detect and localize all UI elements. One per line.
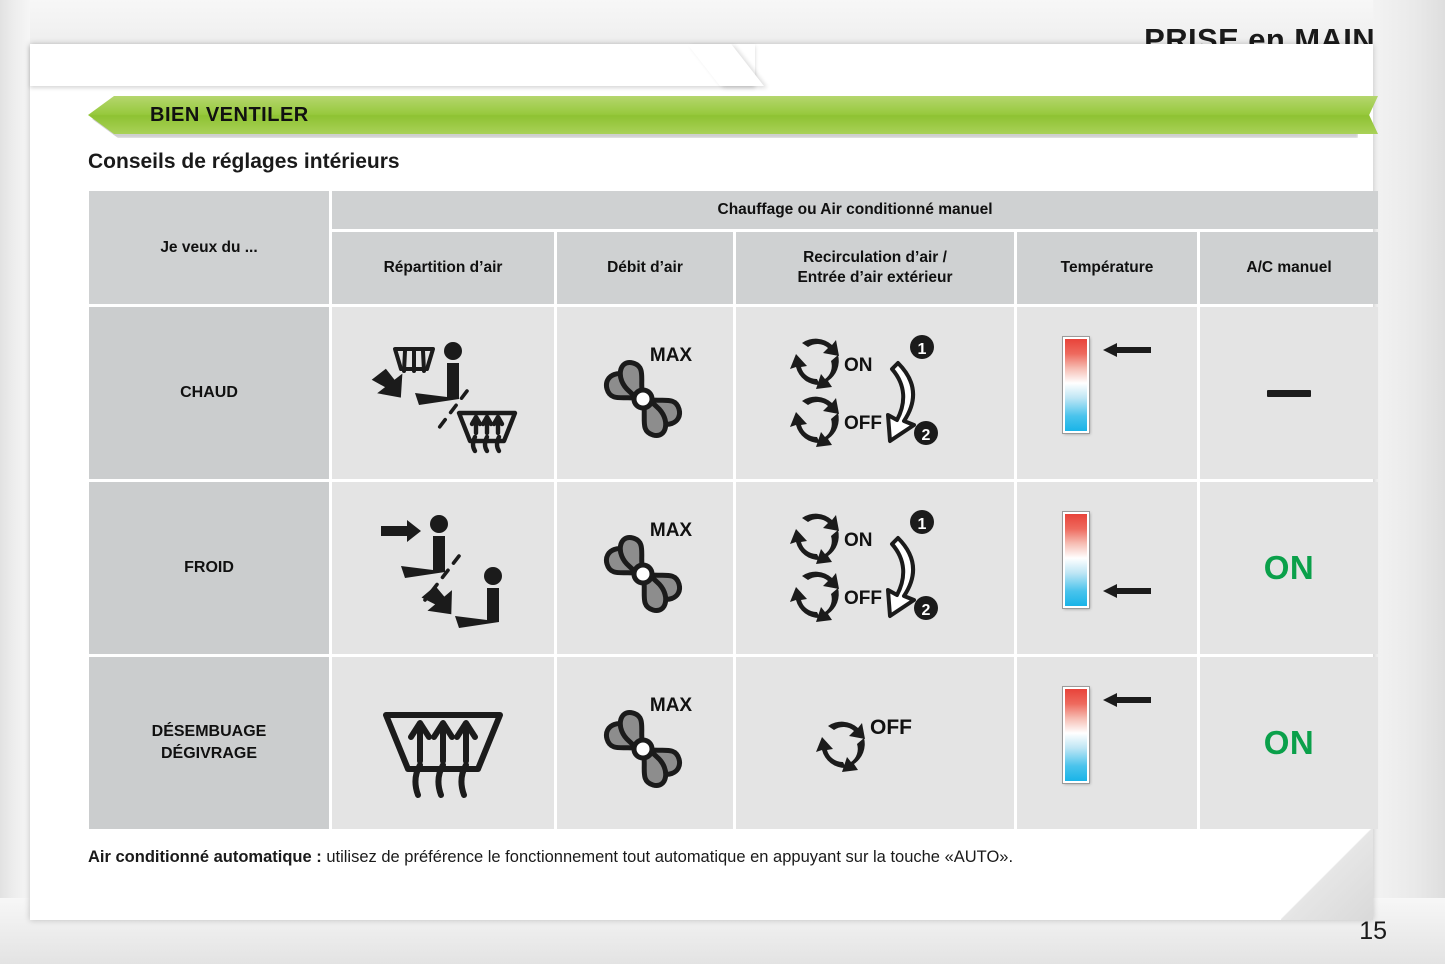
temperature-scale	[1063, 337, 1089, 433]
row-label-chaud-line1: CHAUD	[89, 382, 329, 404]
recirculation-on-label: ON	[844, 530, 873, 551]
person-feet-windshield-icon	[363, 329, 523, 457]
cell-recirculation-desembuage: OFF	[736, 657, 1014, 829]
cell-temperature-chaud	[1017, 307, 1197, 479]
recirculation-step-1: 1	[910, 510, 934, 534]
section-banner: BIEN VENTILER	[88, 96, 1358, 138]
temperature-gradient-bar	[1063, 337, 1151, 449]
svg-text:2: 2	[922, 427, 931, 444]
recirculation-off-icon	[816, 722, 865, 772]
cell-recirculation-froid: ON OFF 1	[736, 482, 1014, 654]
ac-manual-dash-icon	[1267, 390, 1311, 397]
temperature-scale	[1063, 512, 1089, 608]
cell-ac-manual-froid: ON	[1200, 482, 1378, 654]
table-row: CHAUD	[89, 307, 1378, 479]
person-face-and-feet-icon	[363, 504, 523, 632]
fan-icon: MAX	[585, 337, 705, 449]
section-subtitle: Conseils de réglages intérieurs	[88, 150, 400, 174]
fan-icon: MAX	[585, 687, 705, 799]
row-label-desembuage-line1: DÉSEMBUAGE	[89, 721, 329, 743]
recirculation-sequence-arrow	[888, 363, 914, 441]
cell-air-distribution-desembuage	[332, 657, 554, 829]
row-label-froid: FROID	[89, 482, 329, 654]
section-banner-label: BIEN VENTILER	[150, 96, 309, 134]
recirculation-two-step-icon: ON OFF 1	[780, 498, 970, 638]
header-notch	[30, 44, 755, 86]
svg-text:1: 1	[918, 341, 927, 358]
footer-note-bold: Air conditionné automatique :	[88, 848, 322, 866]
recirculation-off-label: OFF	[844, 413, 882, 434]
recirculation-two-step-icon: ON OFF	[780, 323, 970, 463]
header-col-recirculation-line1: Recirculation d’air /	[736, 248, 1014, 268]
footer-note: Air conditionné automatique : utilisez d…	[88, 845, 1360, 871]
cell-recirculation-chaud: ON OFF	[736, 307, 1014, 479]
temperature-arrow-hot	[1103, 343, 1151, 357]
row-label-desembuage: DÉSEMBUAGE DÉGIVRAGE	[89, 657, 329, 829]
fan-max-label: MAX	[650, 695, 693, 716]
recirculation-sequence-arrow	[888, 538, 914, 616]
ac-manual-status: ON	[1264, 549, 1315, 587]
page-border-left	[0, 0, 30, 964]
recirculation-step-1: 1	[910, 335, 934, 359]
temperature-arrow-hot	[1103, 693, 1151, 707]
fan-max-label: MAX	[650, 345, 693, 366]
footer-note-text: utilisez de préférence le fonctionnement…	[322, 848, 1013, 866]
cell-air-distribution-froid	[332, 482, 554, 654]
recirculation-on-label: ON	[844, 355, 873, 376]
header-col-recirculation-line2: Entrée d’air extérieur	[736, 268, 1014, 288]
temperature-scale	[1063, 687, 1089, 783]
header-col-recirculation: Recirculation d’air / Entrée d’air extér…	[736, 232, 1014, 304]
recirculation-step-2: 2	[914, 596, 938, 620]
svg-text:2: 2	[922, 602, 931, 619]
ac-manual-status: ON	[1264, 724, 1315, 762]
cell-ac-manual-chaud	[1200, 307, 1378, 479]
windshield-defrost-icon	[368, 681, 518, 805]
cell-air-flow-desembuage: MAX	[557, 657, 733, 829]
manual-page: PRISE en MAIN BIEN VENTILER Conseils de …	[0, 0, 1445, 964]
cell-air-flow-chaud: MAX	[557, 307, 733, 479]
recirculation-single-icon: OFF	[800, 698, 950, 788]
table-row: DÉSEMBUAGE DÉGIVRAGE	[89, 657, 1378, 829]
recirculation-off-icon	[790, 572, 839, 622]
recirculation-on-icon	[790, 514, 839, 564]
settings-table: Je veux du ... Chauffage ou Air conditio…	[86, 188, 1381, 832]
row-label-desembuage-line2: DÉGIVRAGE	[89, 743, 329, 765]
svg-text:1: 1	[918, 516, 927, 533]
temperature-arrow-cold	[1103, 584, 1151, 598]
page-number: 15	[1359, 917, 1387, 946]
header-group-chauffage: Chauffage ou Air conditionné manuel	[332, 191, 1378, 229]
page-border-right	[1373, 0, 1445, 964]
row-label-froid-line1: FROID	[89, 557, 329, 579]
table-row: FROID	[89, 482, 1378, 654]
recirculation-step-2: 2	[914, 421, 938, 445]
fan-max-label: MAX	[650, 520, 693, 541]
row-label-chaud: CHAUD	[89, 307, 329, 479]
cell-air-flow-froid: MAX	[557, 482, 733, 654]
recirculation-on-icon	[790, 339, 839, 389]
cell-ac-manual-desembuage: ON	[1200, 657, 1378, 829]
header-col-repartition: Répartition d’air	[332, 232, 554, 304]
cell-air-distribution-chaud	[332, 307, 554, 479]
table-header-group-row: Je veux du ... Chauffage ou Air conditio…	[89, 191, 1378, 229]
recirculation-off-label: OFF	[870, 716, 912, 739]
cell-temperature-froid	[1017, 482, 1197, 654]
header-je-veux-du: Je veux du ...	[89, 191, 329, 304]
recirculation-off-icon	[790, 397, 839, 447]
temperature-gradient-bar	[1063, 687, 1151, 799]
recirculation-off-label: OFF	[844, 588, 882, 609]
header-col-debit: Débit d’air	[557, 232, 733, 304]
temperature-gradient-bar	[1063, 512, 1151, 624]
fan-icon: MAX	[585, 512, 705, 624]
header-col-ac-manuel: A/C manuel	[1200, 232, 1378, 304]
header-col-temperature: Température	[1017, 232, 1197, 304]
cell-temperature-desembuage	[1017, 657, 1197, 829]
